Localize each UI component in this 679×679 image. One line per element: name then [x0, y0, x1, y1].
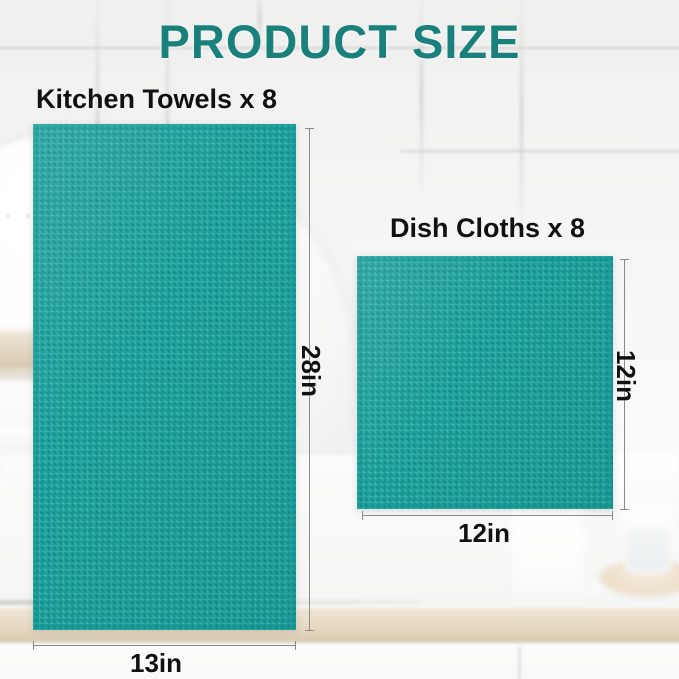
cloth-width-dimension-cap-right	[612, 511, 613, 520]
towel-height-dimension-cap-top	[305, 128, 314, 129]
product-size-infographic: PRODUCT SIZE Kitchen Towels x 8 28in 13i…	[0, 0, 679, 679]
cloth-height-dimension-cap-top	[620, 259, 629, 260]
towel-width-dimension-cap-right	[295, 641, 296, 650]
cabinet-edge-line	[400, 150, 679, 152]
dish-cloth-swatch	[357, 256, 613, 509]
kitchen-towel-swatch	[33, 124, 296, 630]
glass-water	[628, 528, 668, 570]
cloth-width-dimension-line	[362, 515, 613, 516]
cloth-height-value: 12in	[610, 350, 641, 402]
towel-width-dimension-cap-left	[33, 641, 34, 650]
page-title: PRODUCT SIZE	[0, 14, 679, 69]
lower-cabinets	[0, 644, 679, 679]
towel-width-value: 13in	[130, 648, 182, 679]
cloth-height-dimension-cap-bottom	[620, 509, 629, 510]
towel-width-dimension-line	[33, 645, 296, 646]
lower-cabinet-seam	[518, 646, 521, 679]
towel-height-value: 28in	[295, 345, 326, 397]
cloth-width-dimension-cap-left	[362, 511, 363, 520]
towel-height-dimension-cap-bottom	[305, 630, 314, 631]
kitchen-towels-label: Kitchen Towels x 8	[36, 84, 277, 115]
cloth-width-value: 12in	[458, 518, 510, 549]
dish-cloths-label: Dish Cloths x 8	[390, 213, 585, 244]
